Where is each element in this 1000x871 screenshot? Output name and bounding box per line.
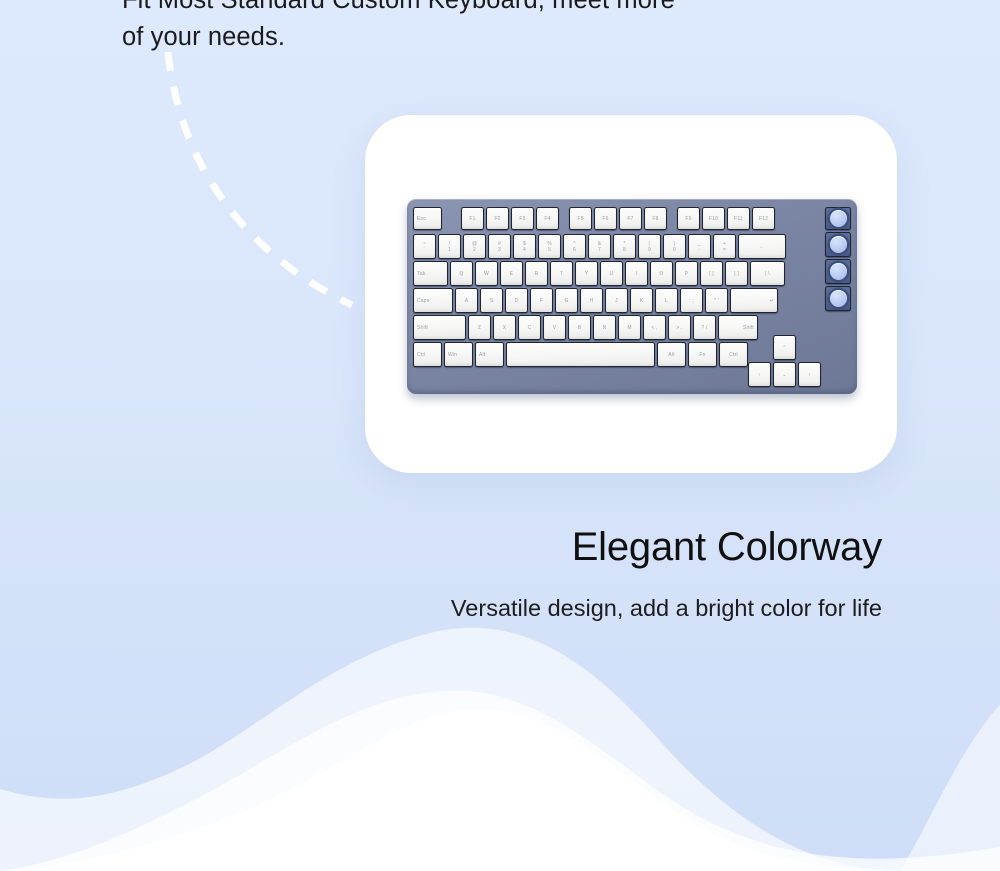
key-k: K [630,288,653,313]
key-1: !1 [438,234,461,259]
key-equals: += [713,234,736,259]
arrow-key-cluster: ⌃ ‹ ⌄ › [748,335,823,387]
key-fn: Fn [688,342,717,367]
key-i: I [625,261,648,286]
key-legend-bottom: 9 [648,247,651,253]
key-d: D [505,288,528,313]
key-0: )0 [663,234,686,259]
arrow-down-icon: ⌄ [782,372,786,378]
key-m: M [618,315,641,340]
key-f: F [530,288,553,313]
key-legend: : ; [689,298,694,304]
key-4: $4 [513,234,536,259]
key-legend-bottom: 5 [548,247,551,253]
key-semicolon: : ; [680,288,703,313]
key-n: N [593,315,616,340]
key-bracket-left: { [ [700,261,723,286]
key-legend: Shift [743,325,754,331]
key-legend-bottom: 1 [448,247,451,253]
key-o: O [650,261,673,286]
keyboard-row-modifier: Ctrl Win Alt Alt Fn Ctrl [413,342,748,367]
key-tab: Tab [413,261,448,286]
keyboard-row-function: Esc F1 F2 F3 F4 F5 F6 F7 F8 F9 F10 F11 F… [413,207,775,230]
key-f12: F12 [752,207,775,230]
key-legend: F12 [759,216,768,222]
key-arrow-down: ⌄ [773,362,796,387]
key-slash: ? / [693,315,716,340]
section-subtitle: Versatile design, add a bright color for… [0,590,1000,626]
arrow-left-icon: ‹ [759,372,761,378]
section-headline: Elegant Colorway [0,518,1000,576]
key-j: J [605,288,628,313]
key-backslash: | \ [750,261,785,286]
backspace-arrow-icon: ← [759,244,764,250]
key-legend: } ] [734,271,739,277]
key-legend: N [603,325,607,331]
key-legend: M [627,325,631,331]
key-f4: F4 [536,207,559,230]
arrow-right-icon: › [809,372,811,378]
key-v: V [543,315,566,340]
key-legend-bottom: 7 [598,247,601,253]
key-arrow-up: ⌃ [773,335,796,360]
accent-key-1 [825,207,851,230]
key-legend: O [659,271,663,277]
key-legend: F4 [544,216,550,222]
key-ctrl-left: Ctrl [413,342,442,367]
accent-key-column [825,207,851,311]
key-legend: X [503,325,507,331]
key-legend: F7 [627,216,633,222]
key-esc: Esc [413,207,442,230]
key-legend: R [535,271,539,277]
accent-key-3 [825,259,851,284]
key-backspace: ← [738,234,786,259]
key-legend: < , [651,325,657,331]
key-9: (9 [638,234,661,259]
key-2: @2 [463,234,486,259]
round-knob-icon [830,290,847,307]
key-r: R [525,261,548,286]
key-legend-bottom: 6 [573,247,576,253]
key-u: U [600,261,623,286]
key-minus: _- [688,234,711,259]
key-t: T [550,261,573,286]
key-legend: " ' [714,298,719,304]
key-e: E [500,261,523,286]
key-legend: F5 [577,216,583,222]
round-knob-icon [830,236,847,253]
key-legend: Fn [699,352,705,358]
key-legend: P [685,271,689,277]
key-h: H [580,288,603,313]
key-arrow-right: › [798,362,821,387]
key-legend: K [640,298,644,304]
key-x: X [493,315,516,340]
key-legend: Shift [417,325,428,331]
key-win: Win [444,342,473,367]
key-legend: { [ [709,271,714,277]
key-legend-bottom: = [723,247,726,253]
key-legend-bottom: 8 [623,247,626,253]
enter-arrow-icon: ↵ [770,298,774,304]
key-legend: B [578,325,582,331]
round-knob-icon [830,263,847,280]
key-legend: Y [585,271,589,277]
key-g: G [555,288,578,313]
key-5: %5 [538,234,561,259]
key-z: Z [468,315,491,340]
key-legend: A [465,298,469,304]
key-legend: F11 [734,216,743,222]
key-f6: F6 [594,207,617,230]
key-legend-bottom: 3 [498,247,501,253]
key-legend: Ctrl [417,352,426,358]
key-space [506,342,655,367]
key-legend: L [665,298,668,304]
key-f10: F10 [702,207,725,230]
key-f11: F11 [727,207,750,230]
accent-key-4 [825,286,851,311]
key-legend: | \ [765,271,770,277]
key-legend-bottom: - [699,247,701,253]
key-b: B [568,315,591,340]
key-legend: > . [676,325,682,331]
key-q: Q [450,261,473,286]
key-legend: V [553,325,557,331]
key-a: A [455,288,478,313]
key-legend: F3 [519,216,525,222]
key-capslock: Caps [413,288,453,313]
key-legend-bottom: 2 [473,247,476,253]
key-legend: F1 [469,216,475,222]
key-legend: F2 [494,216,500,222]
key-legend: Caps [417,298,429,304]
key-legend: C [528,325,532,331]
key-legend: U [610,271,614,277]
key-legend: F10 [709,216,718,222]
key-f7: F7 [619,207,642,230]
key-legend: D [515,298,519,304]
key-arrow-left: ‹ [748,362,771,387]
key-legend: F6 [602,216,608,222]
keyboard-illustration: Esc F1 F2 F3 F4 F5 F6 F7 F8 F9 F10 F11 F… [407,199,857,394]
key-legend-bottom: ` [424,247,426,253]
key-l: L [655,288,678,313]
key-3: #3 [488,234,511,259]
key-legend: Ctrl [729,352,738,358]
key-8: *8 [613,234,636,259]
key-shift-left: Shift [413,315,466,340]
intro-paragraph: Fit Most Standard Custom Keyboard, meet … [122,0,842,56]
key-y: Y [575,261,598,286]
key-legend: E [510,271,514,277]
key-legend: F8 [652,216,658,222]
key-period: > . [668,315,691,340]
key-f9: F9 [677,207,700,230]
key-f3: F3 [511,207,534,230]
key-legend: G [564,298,568,304]
key-tilde: ~` [413,234,436,259]
key-legend: J [615,298,618,304]
key-legend: Alt [668,352,674,358]
key-legend: ? / [701,325,707,331]
accent-key-2 [825,232,851,257]
key-f2: F2 [486,207,509,230]
key-f1: F1 [461,207,484,230]
key-legend: Q [459,271,463,277]
key-legend: Esc [417,216,426,222]
key-quote: " ' [705,288,728,313]
key-alt-left: Alt [475,342,504,367]
keyboard-row-home: Caps A S D F G H J K L : ; " ' ↵ [413,288,778,313]
keyboard-row-qwerty: Tab Q W E R T Y U I O P { [ } ] | \ [413,261,785,286]
key-alt-right: Alt [657,342,686,367]
key-legend-bottom: 4 [523,247,526,253]
key-legend: Win [448,352,457,358]
key-f5: F5 [569,207,592,230]
key-7: &7 [588,234,611,259]
key-legend-bottom: 0 [673,247,676,253]
keyboard-row-number: ~` !1 @2 #3 $4 %5 ^6 &7 *8 (9 )0 _- += ← [413,234,786,259]
key-bracket-right: } ] [725,261,748,286]
keyboard-row-shift: Shift Z X C V B N M < , > . ? / Shift [413,315,758,340]
key-legend: S [490,298,494,304]
key-legend: W [484,271,489,277]
key-w: W [475,261,498,286]
key-legend: Alt [479,352,485,358]
key-legend: I [636,271,638,277]
arrow-up-icon: ⌃ [782,345,786,351]
key-legend: Tab [417,271,426,277]
key-enter: ↵ [730,288,778,313]
key-comma: < , [643,315,666,340]
key-ctrl-right: Ctrl [719,342,748,367]
key-p: P [675,261,698,286]
key-legend: F9 [685,216,691,222]
key-6: ^6 [563,234,586,259]
key-legend: T [560,271,563,277]
round-knob-icon [830,210,847,227]
key-f8: F8 [644,207,667,230]
promo-page: Fit Most Standard Custom Keyboard, meet … [0,0,1000,871]
key-c: C [518,315,541,340]
key-legend: Z [478,325,481,331]
key-s: S [480,288,503,313]
key-legend: H [590,298,594,304]
bottom-wave-decoration [0,621,1000,871]
key-legend: F [540,298,543,304]
